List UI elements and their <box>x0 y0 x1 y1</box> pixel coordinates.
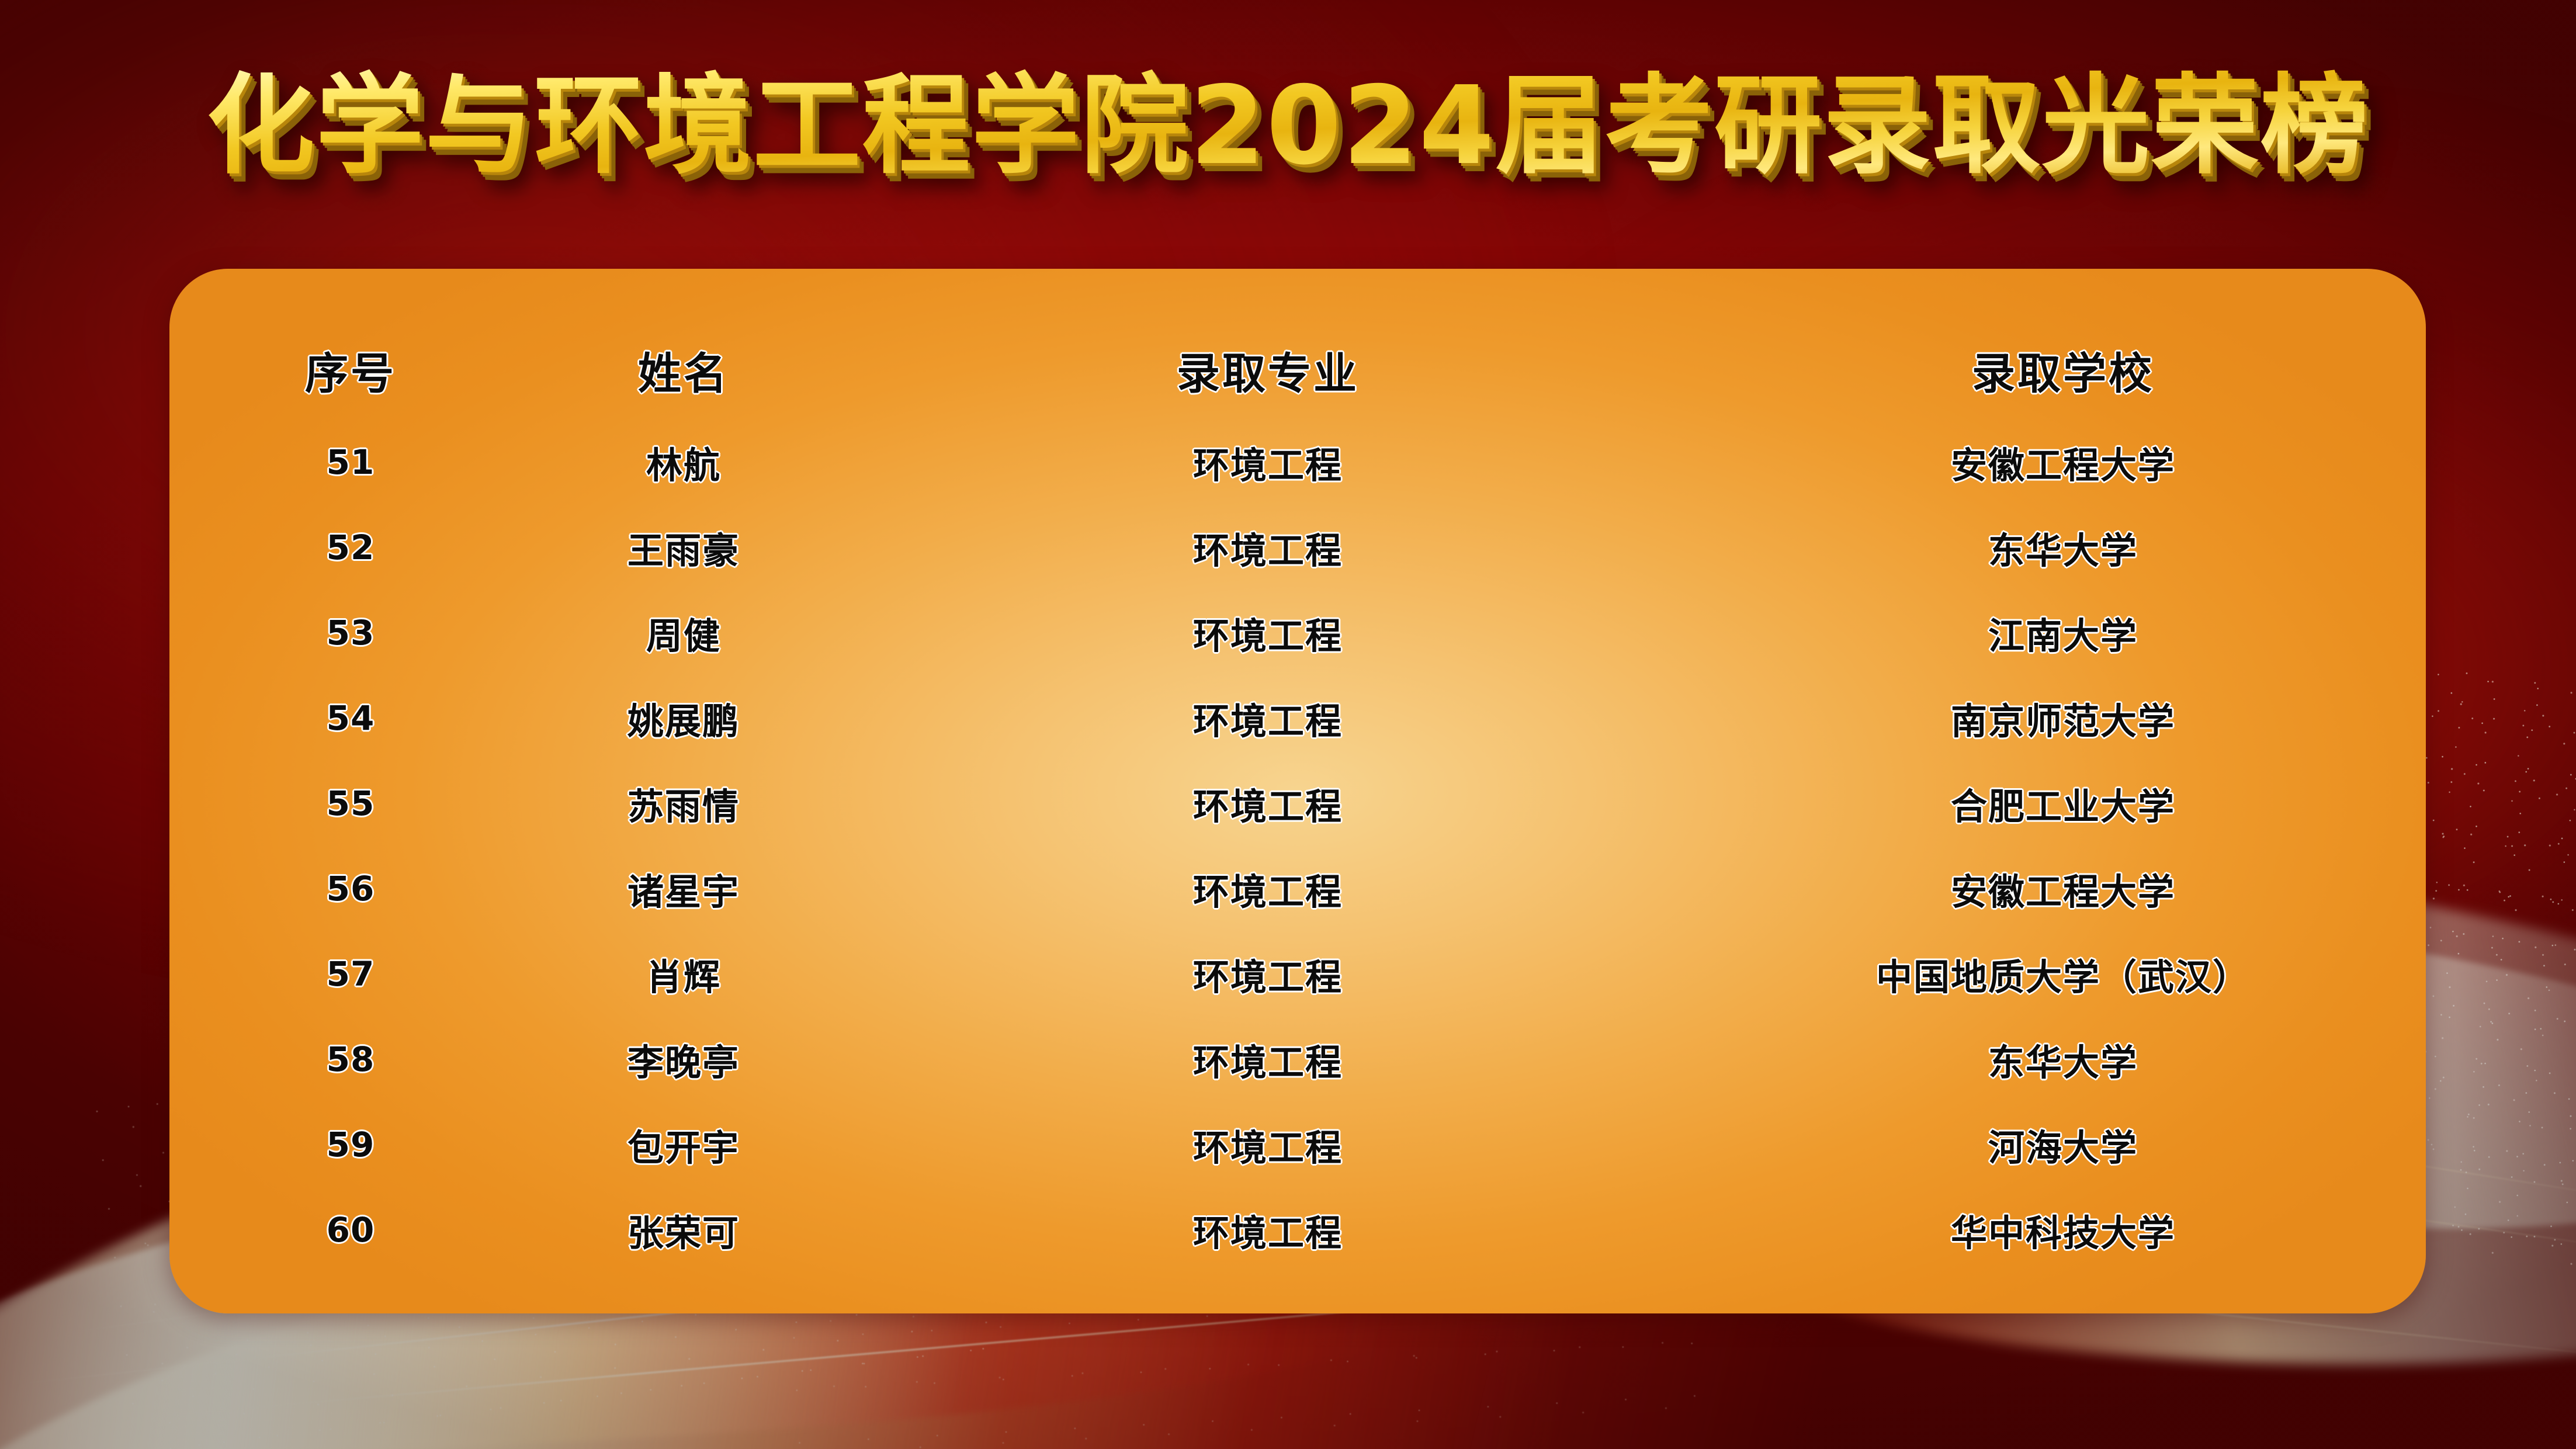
table-header-row: 序号 姓名 录取专业 录取学校 <box>199 320 2426 420</box>
column-header-name: 姓名 <box>502 339 865 401</box>
cell-name: 苏雨情 <box>502 777 865 830</box>
cell-school: 安徽工程大学 <box>1671 436 2426 488</box>
cell-school: 合肥工业大学 <box>1671 777 2426 830</box>
table-row: 59 包开宇 环境工程 河海大学 <box>199 1102 2426 1187</box>
cell-name: 李晚亭 <box>502 1033 865 1086</box>
cell-major: 环境工程 <box>865 521 1671 574</box>
column-header-id: 序号 <box>199 339 502 401</box>
table-row: 58 李晚亭 环境工程 东华大学 <box>199 1017 2426 1102</box>
cell-name: 包开宇 <box>502 1118 865 1171</box>
table-row: 60 张荣可 环境工程 华中科技大学 <box>199 1187 2426 1273</box>
table-row: 54 姚展鹏 环境工程 南京师范大学 <box>199 675 2426 761</box>
cell-id: 55 <box>199 784 502 823</box>
cell-major: 环境工程 <box>865 777 1671 830</box>
cell-school: 南京师范大学 <box>1671 692 2426 744</box>
honor-roll-poster: 化学与环境工程学院2024届考研录取光荣榜 序号 姓名 录取专业 录取学校 51… <box>0 0 2576 1449</box>
cell-major: 环境工程 <box>865 1204 1671 1256</box>
cell-name: 林航 <box>502 436 865 488</box>
poster-title-area: 化学与环境工程学院2024届考研录取光荣榜 <box>0 68 2576 185</box>
cell-id: 52 <box>199 528 502 567</box>
column-header-school: 录取学校 <box>1671 339 2426 401</box>
poster-title: 化学与环境工程学院2024届考研录取光荣榜 <box>207 68 2370 185</box>
table-row: 52 王雨豪 环境工程 东华大学 <box>199 505 2426 590</box>
cell-id: 51 <box>199 442 502 482</box>
column-header-major: 录取专业 <box>865 339 1671 401</box>
table-inner: 序号 姓名 录取专业 录取学校 51 林航 环境工程 安徽工程大学 52 王雨豪… <box>199 320 2426 1273</box>
cell-school: 河海大学 <box>1671 1118 2426 1171</box>
cell-major: 环境工程 <box>865 862 1671 915</box>
honor-roll-table: 序号 姓名 录取专业 录取学校 51 林航 环境工程 安徽工程大学 52 王雨豪… <box>169 269 2426 1313</box>
table-row: 53 周健 环境工程 江南大学 <box>199 590 2426 675</box>
table-row: 56 诸星宇 环境工程 安徽工程大学 <box>199 846 2426 931</box>
cell-school: 中国地质大学（武汉） <box>1671 948 2426 1000</box>
cell-name: 周健 <box>502 606 865 659</box>
cell-major: 环境工程 <box>865 606 1671 659</box>
cell-name: 姚展鹏 <box>502 692 865 744</box>
cell-id: 59 <box>199 1125 502 1164</box>
table-row: 57 肖辉 环境工程 中国地质大学（武汉） <box>199 931 2426 1017</box>
cell-id: 54 <box>199 698 502 738</box>
cell-school: 东华大学 <box>1671 1033 2426 1086</box>
cell-major: 环境工程 <box>865 1033 1671 1086</box>
cell-name: 肖辉 <box>502 948 865 1000</box>
cell-name: 张荣可 <box>502 1204 865 1256</box>
cell-school: 东华大学 <box>1671 521 2426 574</box>
cell-major: 环境工程 <box>865 1118 1671 1171</box>
cell-name: 诸星宇 <box>502 862 865 915</box>
cell-major: 环境工程 <box>865 436 1671 488</box>
cell-id: 53 <box>199 613 502 653</box>
cell-name: 王雨豪 <box>502 521 865 574</box>
cell-id: 57 <box>199 954 502 994</box>
honor-roll-card: 序号 姓名 录取专业 录取学校 51 林航 环境工程 安徽工程大学 52 王雨豪… <box>169 269 2426 1313</box>
cell-id: 56 <box>199 869 502 909</box>
cell-major: 环境工程 <box>865 692 1671 744</box>
cell-school: 江南大学 <box>1671 606 2426 659</box>
table-row: 51 林航 环境工程 安徽工程大学 <box>199 420 2426 505</box>
cell-school: 华中科技大学 <box>1671 1204 2426 1256</box>
cell-id: 58 <box>199 1039 502 1079</box>
table-row: 55 苏雨情 环境工程 合肥工业大学 <box>199 761 2426 846</box>
cell-major: 环境工程 <box>865 948 1671 1000</box>
cell-school: 安徽工程大学 <box>1671 862 2426 915</box>
cell-id: 60 <box>199 1210 502 1250</box>
